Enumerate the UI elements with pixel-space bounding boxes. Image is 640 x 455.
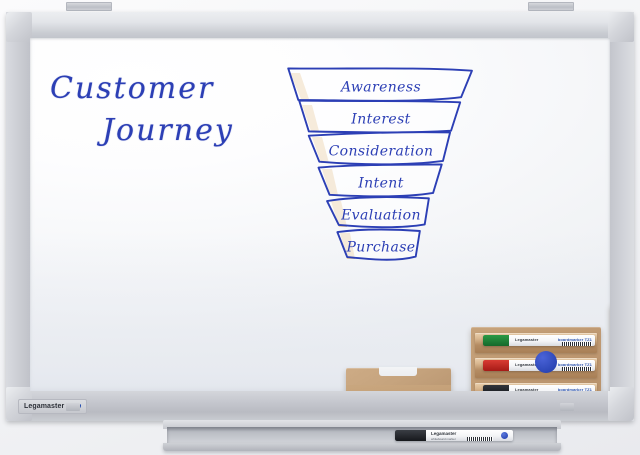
funnel-stage-label: Consideration bbox=[329, 144, 434, 160]
wall-mount-left-bracket bbox=[66, 2, 112, 11]
marker-green-barcode bbox=[562, 342, 592, 346]
whiteboard-writing-surface[interactable]: Customer Journey AwarenessInterestConsid… bbox=[30, 38, 610, 391]
tray-marker-brand: Legamaster bbox=[431, 431, 456, 436]
funnel-stage-label: Interest bbox=[350, 112, 410, 128]
marker-red-barcode bbox=[562, 367, 592, 371]
heading-line-2: Journey bbox=[102, 116, 280, 146]
tray-marker-cap bbox=[395, 430, 428, 441]
marker-slot-1[interactable]: Legamaster boardmarker TZ1 bbox=[475, 333, 597, 353]
marker-green-brand: Legamaster bbox=[515, 337, 538, 342]
frame-rail-top bbox=[6, 12, 634, 40]
marker-black-brand: Legamaster bbox=[515, 387, 538, 392]
brand-plate-label: Legamaster bbox=[24, 403, 64, 410]
funnel-stage-label: Intent bbox=[357, 176, 404, 192]
tray-marker-barcode bbox=[467, 437, 493, 441]
funnel-stage-label: Awareness bbox=[339, 80, 421, 96]
tray-bracket-left bbox=[66, 403, 80, 411]
cardboard-marker-rack[interactable]: Legamaster boardmarker TZ1 Legamaster bo… bbox=[471, 327, 601, 391]
whiteboard-frame: Customer Journey AwarenessInterestConsid… bbox=[6, 12, 634, 421]
pen-pocket-notch bbox=[379, 367, 417, 376]
tray-marker-black[interactable]: Legamaster whiteboard marker bbox=[395, 430, 513, 441]
heading-line-1: Customer bbox=[50, 74, 280, 104]
marker-green-cap bbox=[483, 335, 511, 346]
funnel-stage-label: Purchase bbox=[345, 240, 415, 256]
frame-corner-top-right bbox=[608, 12, 634, 42]
funnel-stage-label: Evaluation bbox=[340, 208, 421, 224]
frame-corner-top-left bbox=[6, 12, 32, 42]
marker-black-model: boardmarker TZ1 bbox=[558, 387, 592, 392]
wall-mount-right-bracket bbox=[528, 2, 574, 11]
pen-tray[interactable]: Legamaster whiteboard marker bbox=[163, 420, 561, 451]
marker-black-cap bbox=[483, 385, 511, 391]
marker-red-cap bbox=[483, 360, 511, 371]
frame-rail-bottom bbox=[6, 391, 634, 421]
customer-journey-funnel-diagram: AwarenessInterestConsiderationIntentEval… bbox=[276, 66, 486, 276]
marker-black[interactable]: Legamaster boardmarker TZ1 bbox=[483, 385, 595, 391]
marker-green[interactable]: Legamaster boardmarker TZ1 bbox=[483, 335, 595, 346]
handwritten-heading: Customer Journey bbox=[50, 74, 280, 146]
tray-bracket-right bbox=[560, 403, 574, 411]
frame-rail-right bbox=[610, 12, 634, 421]
spare-blue-cap-icon bbox=[535, 351, 557, 373]
cardboard-pen-pocket[interactable]: Legamaster bbox=[346, 368, 451, 391]
whiteboard-scene: Customer Journey AwarenessInterestConsid… bbox=[0, 0, 640, 455]
pen-tray-lip bbox=[163, 443, 561, 451]
marker-slot-3[interactable]: Legamaster boardmarker TZ1 bbox=[475, 383, 597, 391]
frame-corner-bottom-right bbox=[608, 387, 634, 421]
tray-marker-color-dot-icon bbox=[501, 432, 508, 439]
tray-marker-subtitle: whiteboard marker bbox=[431, 437, 456, 441]
pen-pocket-front bbox=[346, 385, 451, 391]
frame-rail-left bbox=[6, 12, 30, 421]
